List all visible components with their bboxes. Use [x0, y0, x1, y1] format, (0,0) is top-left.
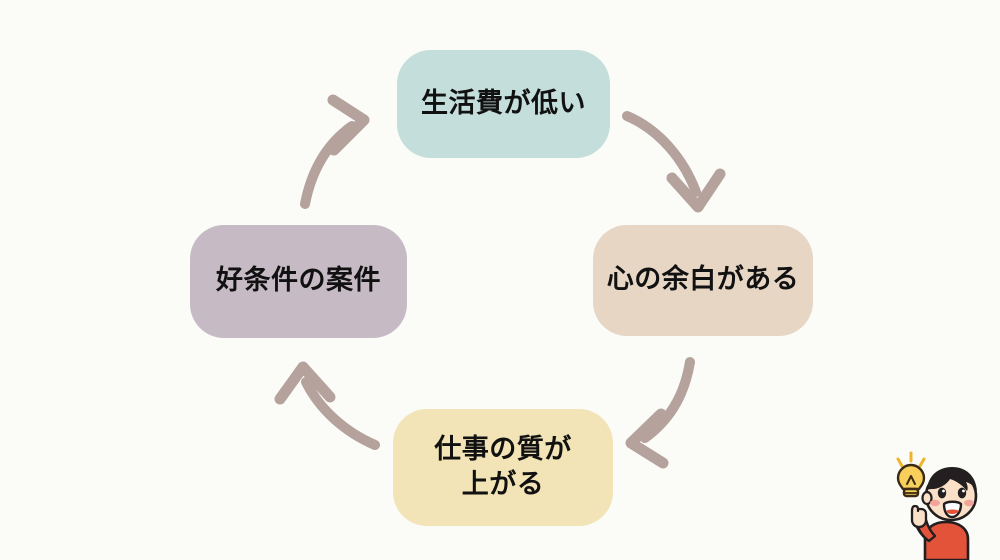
arrow-left-to-top [305, 100, 364, 204]
arrow-top-to-right [627, 116, 720, 207]
node-good-offers-label: 好条件の案件 [216, 264, 381, 299]
node-work-quality[interactable]: 仕事の質が 上がる [393, 409, 613, 526]
node-living-cost-label: 生活費が低い [421, 87, 586, 122]
node-good-offers[interactable]: 好条件の案件 [190, 225, 407, 338]
diagram-canvas: 生活費が低い 心の余白がある 仕事の質が 上がる 好条件の案件 [0, 0, 1000, 560]
arrow-right-to-bottom [631, 362, 690, 463]
lightbulb-icon [898, 453, 924, 496]
node-work-quality-label: 仕事の質が 上がる [434, 433, 572, 502]
node-living-cost[interactable]: 生活費が低い [397, 50, 610, 158]
idea-boy-mascot [884, 444, 1000, 560]
node-mental-space[interactable]: 心の余白がある [593, 225, 813, 336]
arrow-bottom-to-left [280, 367, 375, 445]
node-mental-space-label: 心の余白がある [607, 263, 800, 298]
